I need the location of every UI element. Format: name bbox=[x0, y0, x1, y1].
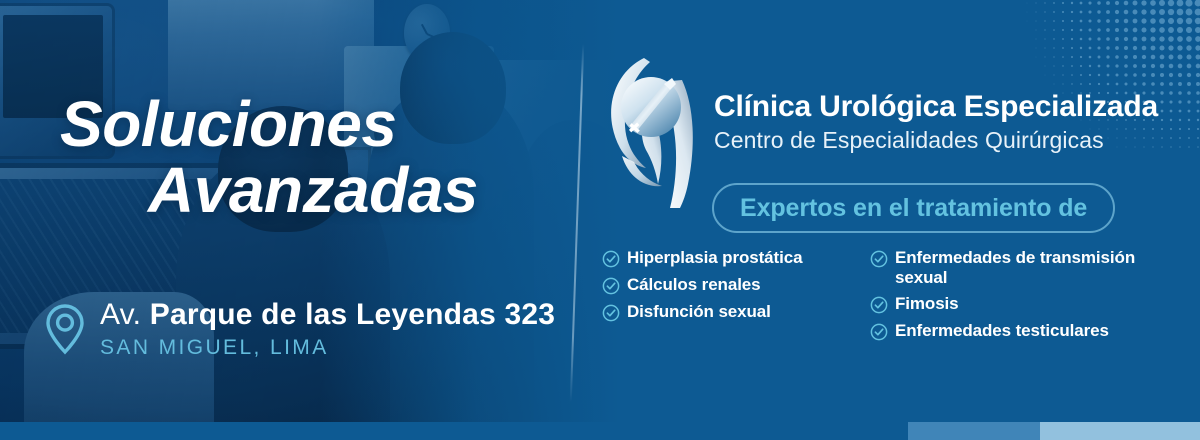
list-item: Hiperplasia prostática bbox=[602, 248, 852, 268]
address-text: Av. Parque de las Leyendas 323 SAN MIGUE… bbox=[100, 300, 555, 358]
treatment-column-right: Enfermedades de transmisión sexual Fimos… bbox=[870, 248, 1160, 348]
check-circle-icon bbox=[602, 250, 620, 268]
list-item-label: Disfunción sexual bbox=[627, 302, 771, 322]
bottom-band bbox=[0, 422, 1200, 440]
clinic-promo-banner: Soluciones Avanzadas Av. Parque de las L… bbox=[0, 0, 1200, 440]
list-item-label: Enfermedades de transmisión sexual bbox=[895, 248, 1160, 287]
list-item: Enfermedades testiculares bbox=[870, 321, 1160, 341]
experts-pill: Expertos en el tratamiento de bbox=[712, 183, 1115, 233]
list-item-label: Hiperplasia prostática bbox=[627, 248, 802, 268]
check-circle-icon bbox=[870, 323, 888, 341]
address-prefix: Av. bbox=[100, 298, 141, 331]
address-district: SAN MIGUEL, LIMA bbox=[100, 337, 555, 358]
check-circle-icon bbox=[602, 277, 620, 295]
brand-text: Clínica Urológica Especializada Centro d… bbox=[714, 52, 1158, 154]
list-item: Enfermedades de transmisión sexual bbox=[870, 248, 1160, 287]
list-item-label: Fimosis bbox=[895, 294, 959, 314]
list-item: Fimosis bbox=[870, 294, 1160, 314]
page-title: Soluciones Avanzadas bbox=[60, 92, 478, 224]
address-block: Av. Parque de las Leyendas 323 SAN MIGUE… bbox=[44, 300, 555, 358]
list-item: Cálculos renales bbox=[602, 275, 852, 295]
check-circle-icon bbox=[870, 296, 888, 314]
list-item-label: Cálculos renales bbox=[627, 275, 761, 295]
list-item: Disfunción sexual bbox=[602, 302, 852, 322]
check-circle-icon bbox=[870, 250, 888, 268]
headline-line-1: Soluciones bbox=[60, 88, 396, 160]
address-street: Parque de las Leyendas 323 bbox=[150, 298, 555, 331]
bottom-band-segment-light bbox=[1040, 422, 1200, 440]
clinic-swirl-logo-icon bbox=[604, 52, 700, 212]
brand-subtitle: Centro de Especialidades Quirúrgicas bbox=[714, 127, 1158, 154]
brand-title: Clínica Urológica Especializada bbox=[714, 90, 1158, 123]
list-item-label: Enfermedades testiculares bbox=[895, 321, 1109, 341]
location-pin-icon bbox=[44, 303, 86, 355]
headline-line-2: Avanzadas bbox=[60, 158, 478, 224]
address-street-line: Av. Parque de las Leyendas 323 bbox=[100, 300, 555, 330]
check-circle-icon bbox=[602, 304, 620, 322]
treatment-column-left: Hiperplasia prostática Cálculos renales … bbox=[602, 248, 852, 348]
experts-pill-label: Expertos en el tratamiento de bbox=[740, 194, 1087, 223]
treatment-lists: Hiperplasia prostática Cálculos renales … bbox=[602, 248, 1162, 348]
